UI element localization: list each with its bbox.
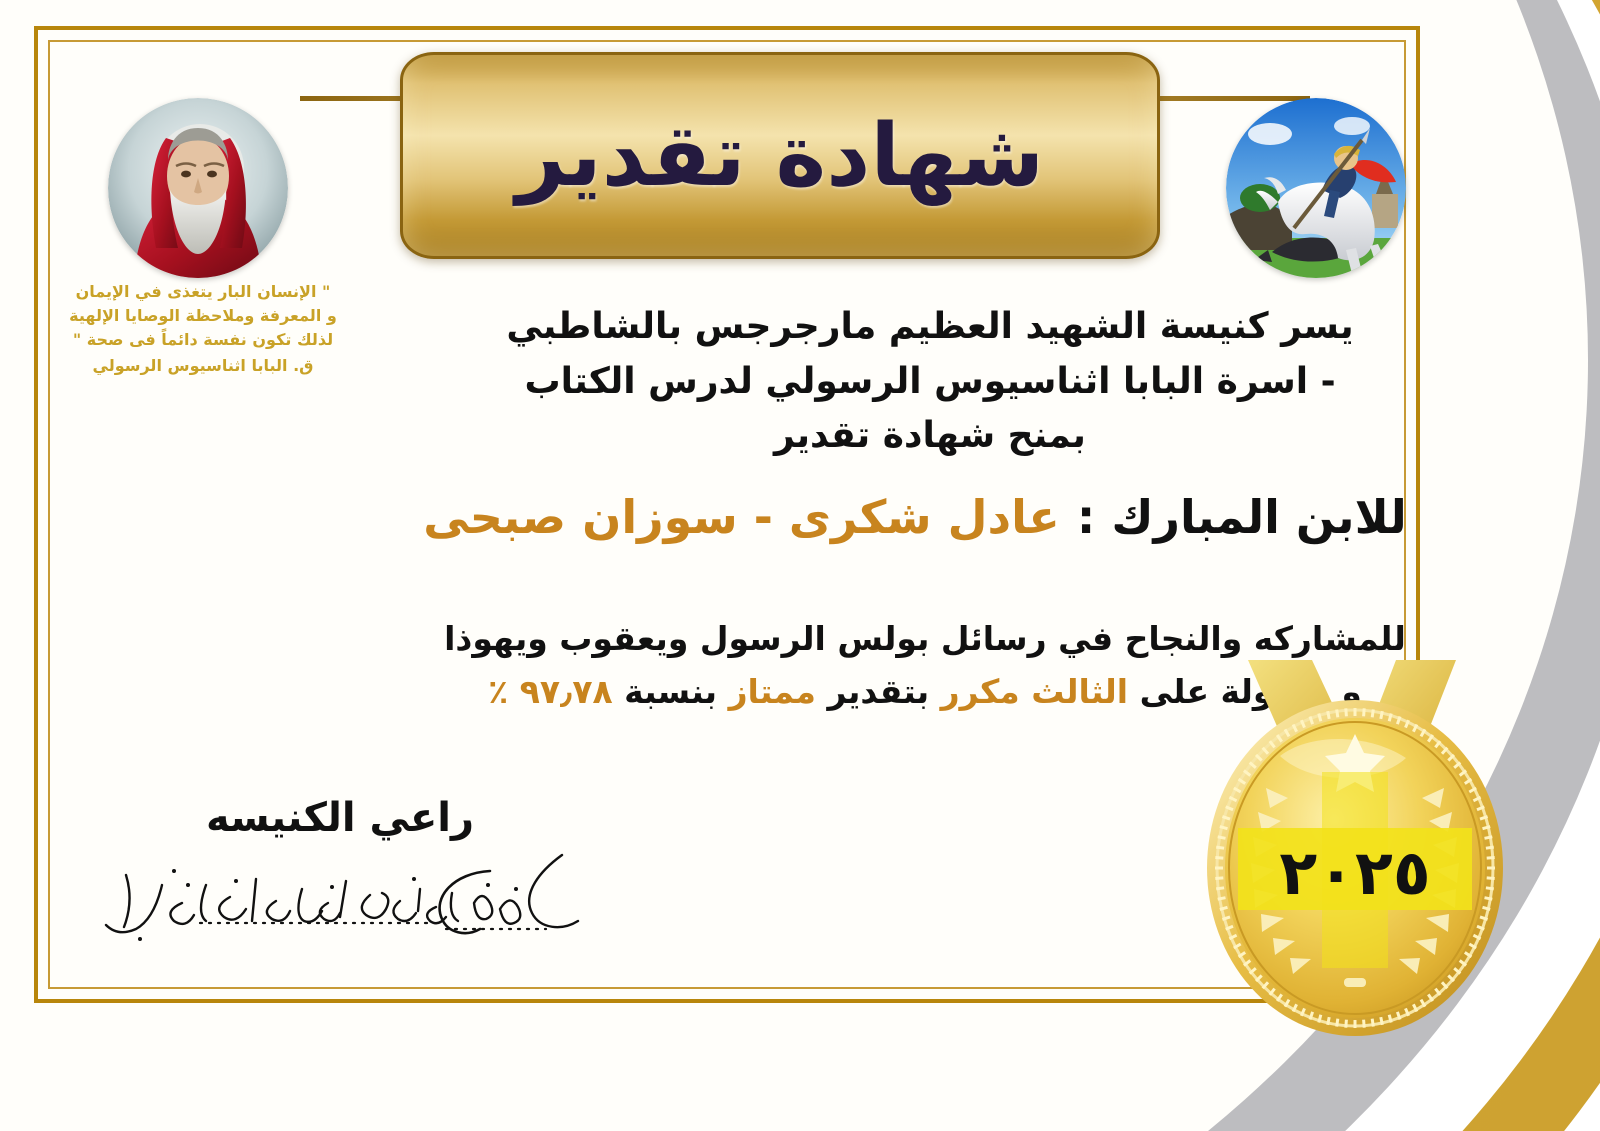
- percent-sign: ٪: [488, 672, 508, 711]
- gold-medal-seal: ٢٠٢٥: [1200, 660, 1510, 1040]
- saint-george-icon: [1226, 98, 1406, 278]
- signature-title: راعي الكنيسه: [70, 795, 610, 841]
- recipient-name: عادل شكرى - سوزان صبحى: [423, 490, 1060, 544]
- medal-year: ٢٠٢٥: [1200, 836, 1510, 909]
- saint-portrait-icon: [108, 98, 288, 278]
- certificate-page: شهادة تقدير: [0, 0, 1600, 1131]
- achievement-grade-prefix: بتقدير: [827, 672, 929, 711]
- body-text-block: يسر كنيسة الشهيد العظيم مارجرجس بالشاطبي…: [430, 300, 1430, 464]
- achievement-percent-prefix: بنسبة: [624, 672, 717, 711]
- achievement-grade: ممتاز: [729, 672, 816, 711]
- achievement-percent: ٩٧٫٧٨: [520, 672, 613, 711]
- body-line-1: يسر كنيسة الشهيد العظيم مارجرجس بالشاطبي: [430, 300, 1430, 355]
- quote-line-2: و المعرفة وملاحظة الوصايا الإلهية: [58, 304, 348, 328]
- body-line-3: بمنح شهادة تقدير: [430, 409, 1430, 464]
- achievement-rank: الثالث مكرر: [941, 672, 1129, 711]
- title-plaque: شهادة تقدير: [400, 52, 1160, 259]
- signature-row: [70, 845, 610, 965]
- body-line-2: - اسرة البابا اثناسيوس الرسولي لدرس الكت…: [430, 355, 1430, 410]
- handwritten-signature-icon: [70, 845, 610, 965]
- quote-line-1: " الإنسان البار يتغذى في الإيمان: [58, 280, 348, 304]
- recipient-label: للابن المبارك :: [1077, 490, 1407, 544]
- signature-block: راعي الكنيسه: [70, 795, 610, 965]
- quote-block: " الإنسان البار يتغذى في الإيمان و المعر…: [58, 280, 348, 378]
- achievement-line-1: للمشاركه والنجاح في رسائل بولس الرسول وي…: [420, 612, 1430, 665]
- quote-line-3: لذلك تكون نفسة دائماً فى صحة ": [58, 328, 348, 352]
- recipient-row: للابن المبارك : عادل شكرى - سوزان صبحى: [410, 490, 1420, 544]
- quote-attribution: ق. البابا اثناسيوس الرسولي: [58, 354, 348, 378]
- page-title: شهادة تقدير: [516, 113, 1044, 199]
